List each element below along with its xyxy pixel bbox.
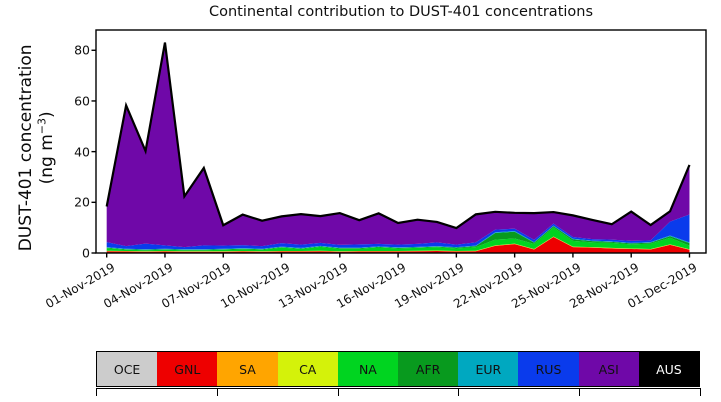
- legend-cell-label: ASI: [599, 362, 619, 377]
- legend-cell-sa[interactable]: SA: [217, 352, 277, 386]
- legend-cell-label: NA: [359, 362, 377, 377]
- legend-cell-asi[interactable]: ASI: [579, 352, 639, 386]
- legend-cell-label: RUS: [536, 362, 562, 377]
- legend-cell-label: GNL: [174, 362, 200, 377]
- colorbar-axis: [96, 388, 700, 401]
- colorbar-axis-line: [96, 388, 700, 389]
- colorbar-tick: [458, 388, 459, 396]
- legend-cell-eur[interactable]: EUR: [458, 352, 518, 386]
- legend-cell-label: AUS: [656, 362, 682, 377]
- legend-cell-rus[interactable]: RUS: [518, 352, 578, 386]
- legend-cell-oce[interactable]: OCE: [97, 352, 157, 386]
- legend-cell-aus[interactable]: AUS: [639, 352, 699, 386]
- legend-cell-gnl[interactable]: GNL: [157, 352, 217, 386]
- legend-cell-label: EUR: [475, 362, 501, 377]
- colorbar-tick: [338, 388, 339, 396]
- area-series-asi: [107, 43, 690, 248]
- legend-cell-label: CA: [299, 362, 316, 377]
- colorbar-tick: [700, 388, 701, 396]
- colorbar-tick: [579, 388, 580, 396]
- legend-cell-na[interactable]: NA: [338, 352, 398, 386]
- legend-cell-ca[interactable]: CA: [278, 352, 338, 386]
- colorbar-tick: [217, 388, 218, 396]
- figure-canvas: Continental contribution to DUST-401 con…: [0, 0, 721, 402]
- legend-cell-label: SA: [239, 362, 256, 377]
- legend-cell-label: OCE: [114, 362, 140, 377]
- colorbar-tick: [96, 388, 97, 396]
- plot-area: [0, 0, 721, 402]
- category-colorbar-legend[interactable]: OCEGNLSACANAAFREURRUSASIAUS: [96, 351, 700, 387]
- legend-cell-afr[interactable]: AFR: [398, 352, 458, 386]
- legend-cell-label: AFR: [416, 362, 440, 377]
